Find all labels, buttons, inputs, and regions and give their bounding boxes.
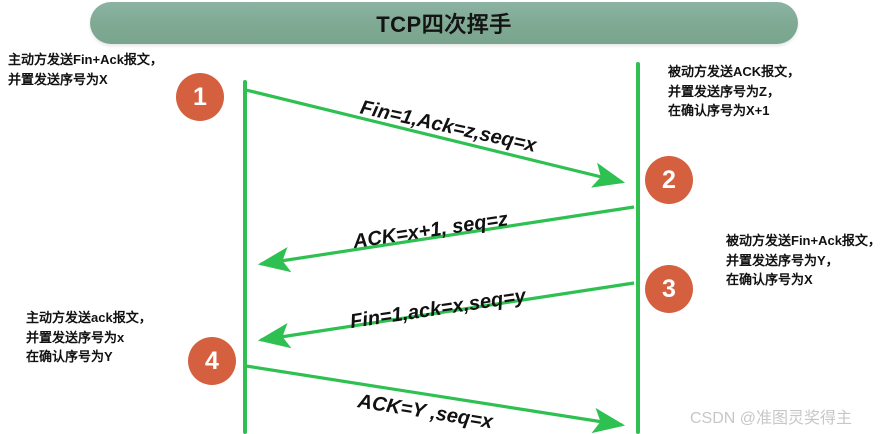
- annotation-step-4: 主动方发送ack报文， 并置发送序号为x 在确认序号为Y: [26, 308, 152, 367]
- diagram-canvas: TCP四次挥手 Fin=1,Ack=z,seq=x ACK=x+1, seq=z…: [0, 0, 894, 434]
- csdn-watermark: CSDN @准图灵奖得主: [690, 404, 852, 428]
- step-marker-2: 2: [645, 156, 693, 204]
- annotation-step-3: 被动方发送Fin+Ack报文， 并置发送序号为Y， 在确认序号为X: [726, 231, 881, 290]
- step-marker-3: 3: [645, 265, 693, 313]
- step-marker-4: 4: [188, 337, 236, 385]
- annotation-step-2: 被动方发送ACK报文， 并置发送序号为Z， 在确认序号为X+1: [668, 62, 800, 121]
- step-marker-1: 1: [176, 73, 224, 121]
- annotation-step-1: 主动方发送Fin+Ack报文， 并置发送序号为X: [8, 50, 163, 89]
